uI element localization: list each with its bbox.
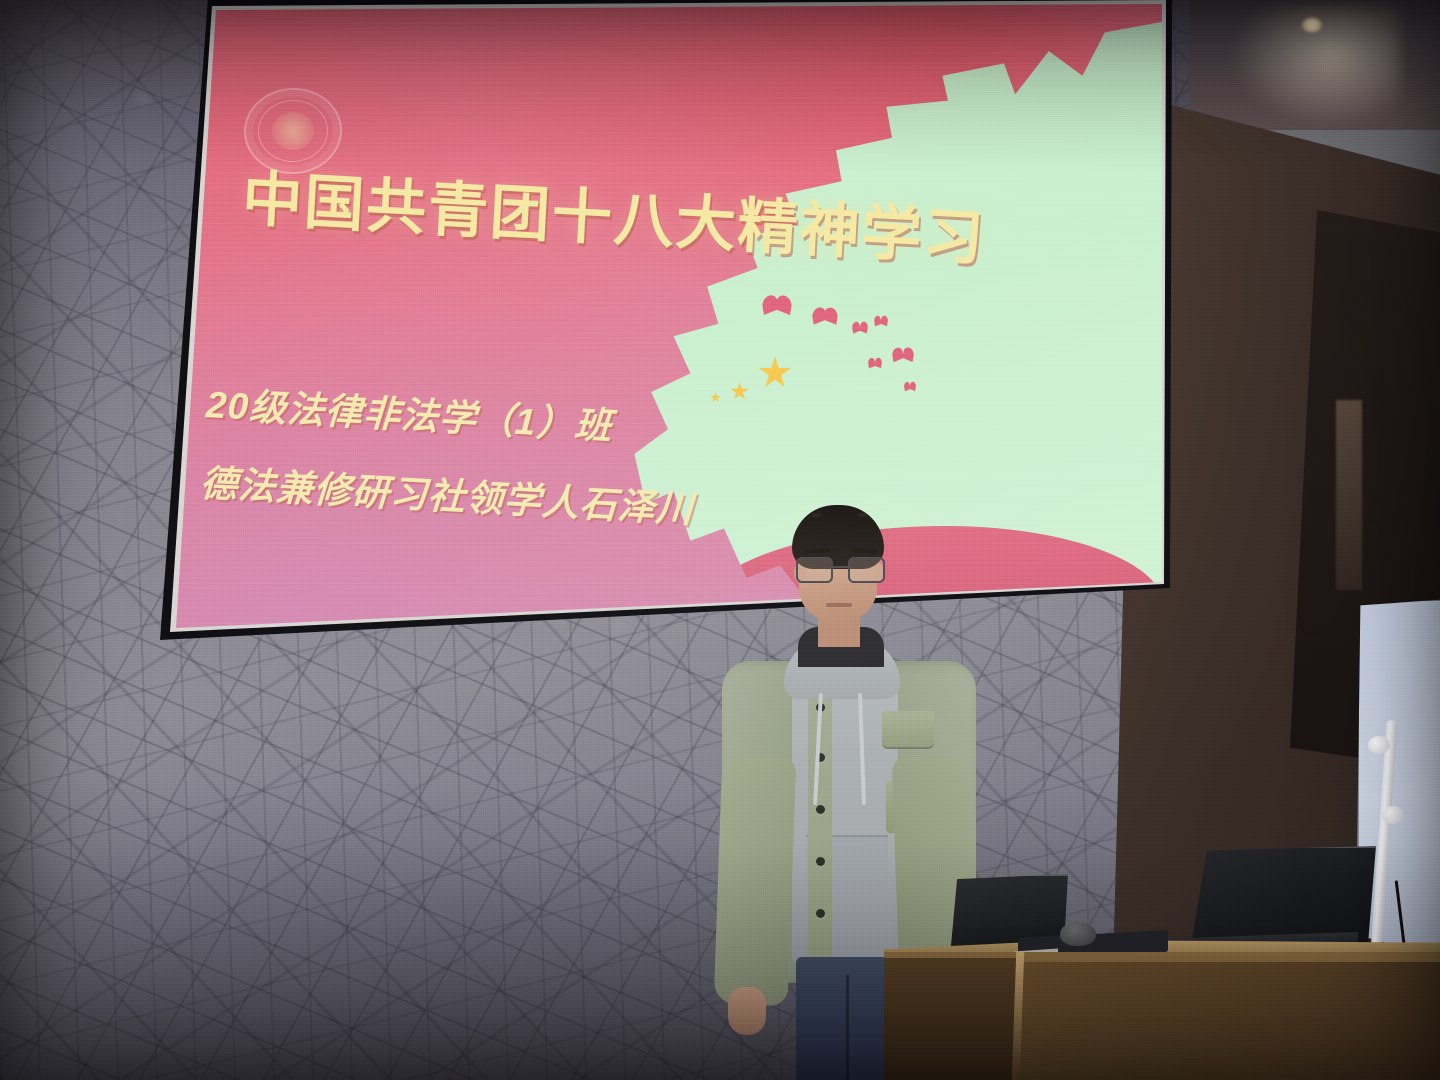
bird-icon	[762, 296, 792, 312]
jacket-button	[816, 857, 825, 866]
lecture-room-photo: 中国共青团十八大精神学习 20级法律非法学（1）班 德法兼修研习社领学人石泽川	[0, 0, 1440, 1080]
glasses-icon	[794, 557, 884, 579]
mouth	[826, 603, 852, 607]
bird-icon	[904, 382, 916, 390]
glasses-bridge	[829, 566, 848, 568]
bird-icon	[874, 316, 888, 325]
ceiling-lamp-icon	[1302, 18, 1322, 32]
jeans-seam	[846, 975, 849, 1080]
wall-trim	[1336, 400, 1362, 590]
arm-left	[714, 754, 797, 1006]
jacket-button	[816, 805, 825, 814]
eye	[858, 513, 867, 517]
lectern-side-panel	[884, 958, 1024, 1080]
bird-icon	[852, 322, 868, 332]
glasses-lens	[848, 557, 885, 583]
chest-pocket-flap	[882, 711, 934, 749]
jacket-button	[816, 909, 825, 918]
lectern-front-panel	[1020, 962, 1440, 1080]
mic-stand-knob	[1382, 806, 1404, 824]
glasses-lens	[796, 557, 833, 583]
hand-left	[728, 987, 766, 1035]
bird-icon	[812, 308, 838, 322]
mic-stand-knob	[1368, 736, 1390, 754]
eye	[812, 513, 821, 517]
bird-icon	[892, 348, 914, 360]
bird-icon	[868, 358, 882, 367]
mouse[interactable]	[1060, 922, 1096, 946]
